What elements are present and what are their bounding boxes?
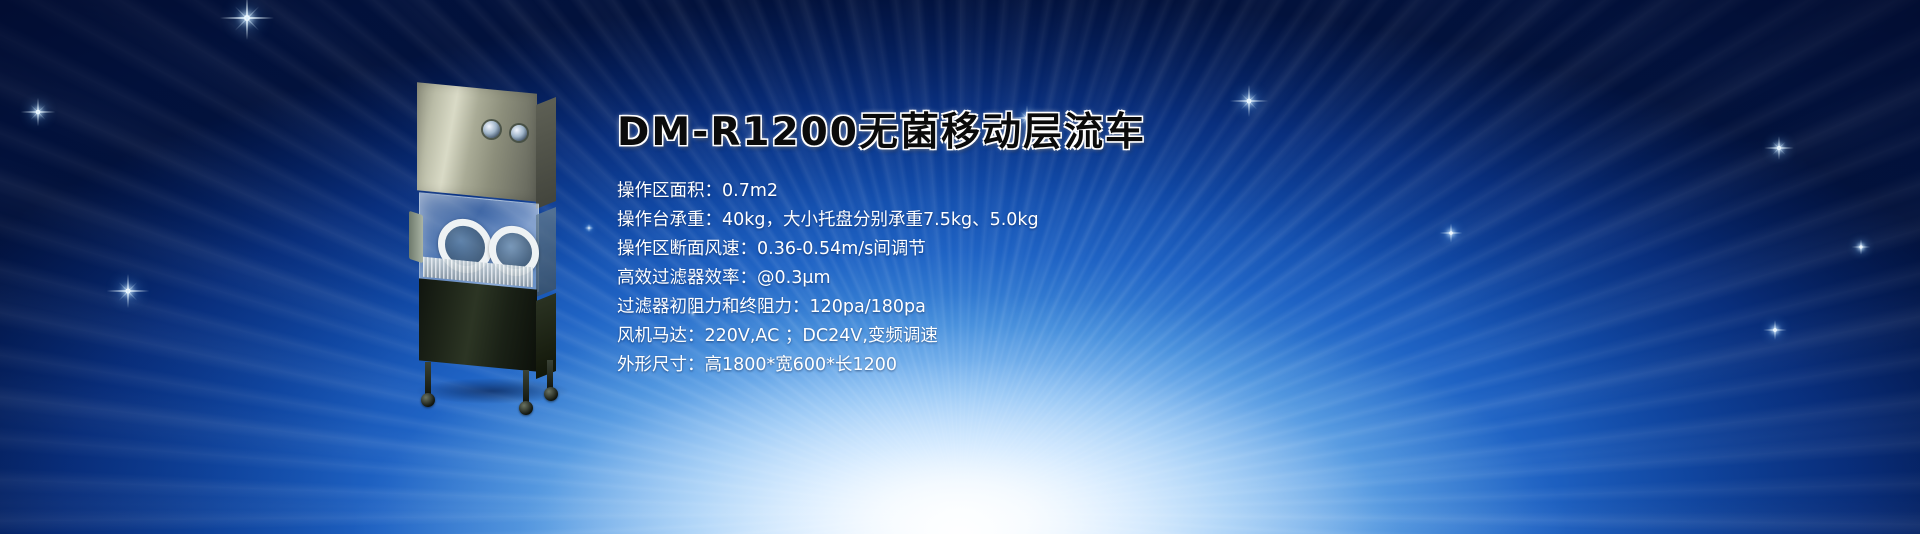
- caster-wheel-icon: [544, 387, 558, 401]
- caster-wheel-icon: [421, 393, 435, 407]
- cart-leg: [523, 370, 529, 404]
- spec-line-work-area: 操作区面积：0.7m2: [617, 177, 1517, 206]
- cart-leg: [425, 362, 431, 396]
- pressure-gauge-icon: [511, 125, 527, 141]
- product-banner: DM-R1200无菌移动层流车 操作区面积：0.7m2 操作台承重：40kg，大…: [0, 0, 1920, 534]
- cabinet-upper-side: [536, 97, 556, 209]
- product-image: [395, 78, 580, 408]
- base-cabinet-front: [419, 278, 537, 371]
- copy-block: DM-R1200无菌移动层流车 操作区面积：0.7m2 操作台承重：40kg，大…: [617, 112, 1517, 380]
- spec-line-air-velocity: 操作区断面风速：0.36-0.54m/s间调节: [617, 235, 1517, 264]
- spec-line-hepa-efficiency: 高效过滤器效率：@0.3μm: [617, 264, 1517, 293]
- cabinet-upper-front: [417, 82, 537, 202]
- caster-wheel-icon: [519, 401, 533, 415]
- spec-line-dimensions: 外形尺寸：高1800*宽600*长1200: [617, 351, 1517, 380]
- spec-line-filter-resistance: 过滤器初阻力和终阻力：120pa/180pa: [617, 293, 1517, 322]
- glass-chamber-side: [536, 207, 556, 297]
- spec-line-load-capacity: 操作台承重：40kg，大小托盘分别承重7.5kg、5.0kg: [617, 206, 1517, 235]
- base-cabinet-side: [536, 293, 556, 379]
- product-title: DM-R1200无菌移动层流车: [617, 112, 1517, 155]
- cart-leg: [547, 360, 553, 390]
- spec-line-fan-motor: 风机马达：220V,AC ；DC24V,变频调速: [617, 322, 1517, 351]
- side-armrest: [409, 211, 423, 264]
- pressure-gauge-icon: [483, 121, 500, 138]
